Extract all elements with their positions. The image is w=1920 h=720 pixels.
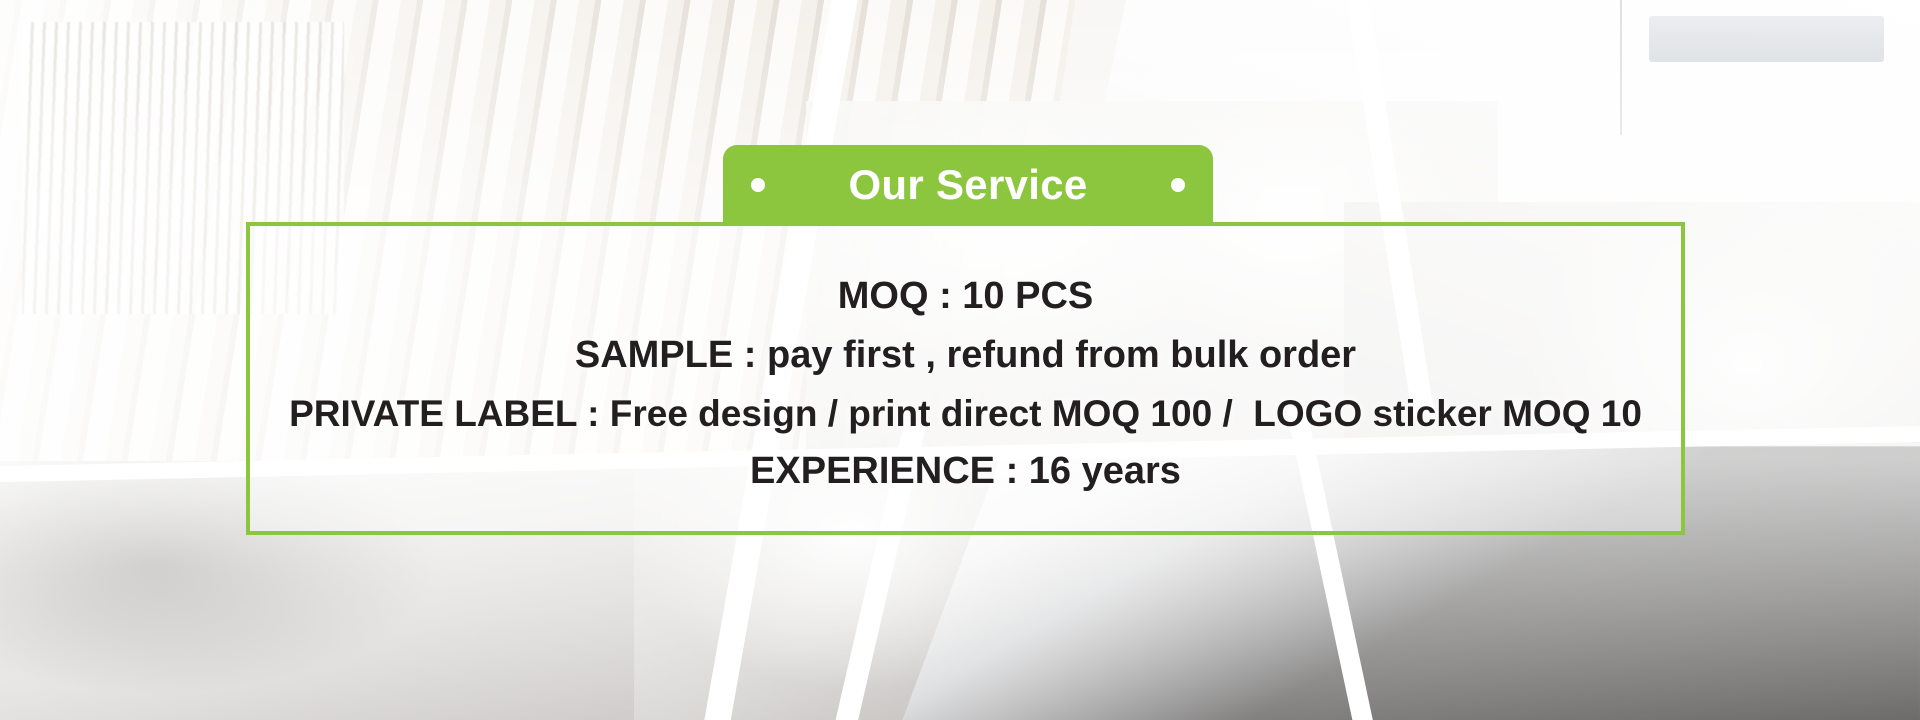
page-title: Our Service [848, 164, 1087, 206]
service-details-list: MOQ : 10 PCS SAMPLE : pay first , refund… [246, 232, 1685, 532]
dot-icon-left [751, 178, 765, 192]
service-line-experience: EXPERIENCE : 16 years [750, 449, 1181, 494]
service-banner: Our Service MOQ : 10 PCS SAMPLE : pay fi… [0, 0, 1920, 720]
service-line-moq: MOQ : 10 PCS [838, 274, 1094, 319]
service-line-private-label: PRIVATE LABEL : Free design / print dire… [289, 392, 1642, 436]
section-heading-pill: Our Service [723, 145, 1213, 225]
dot-icon-right [1171, 178, 1185, 192]
service-line-sample: SAMPLE : pay first , refund from bulk or… [575, 333, 1356, 378]
